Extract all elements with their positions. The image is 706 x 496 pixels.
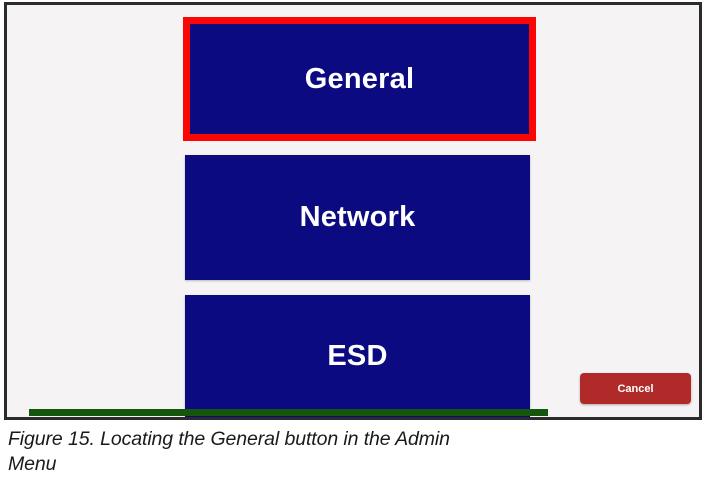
menu-button-esd[interactable]: ESD	[185, 295, 530, 417]
menu-button-general[interactable]: General	[189, 23, 530, 135]
cancel-button[interactable]: Cancel	[580, 373, 691, 404]
figure-container: General Network ESD Cancel Figure 15. Lo…	[0, 0, 706, 496]
admin-menu-screen: General Network ESD Cancel	[7, 5, 699, 417]
status-strip	[29, 409, 548, 416]
menu-button-network[interactable]: Network	[185, 155, 530, 280]
figure-caption: Figure 15. Locating the General button i…	[8, 427, 478, 477]
device-screenshot-frame: General Network ESD Cancel	[4, 2, 702, 420]
